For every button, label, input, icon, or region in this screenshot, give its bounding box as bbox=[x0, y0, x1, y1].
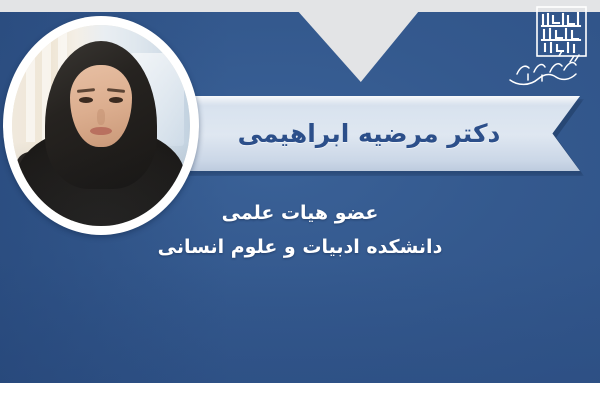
university-logo bbox=[504, 4, 590, 94]
role-line-primary: عضو هیات علمی bbox=[0, 196, 600, 230]
faculty-announcement-card: دکتر مرضیه ابراهیمی عضو هیات ع bbox=[0, 0, 600, 400]
role-block: عضو هیات علمی دانشکده ادبیات و علوم انسا… bbox=[0, 196, 600, 264]
role-line-secondary: دانشکده ادبیات و علوم انسانی bbox=[0, 230, 600, 264]
bottom-white-band bbox=[0, 383, 600, 400]
name-ribbon: دکتر مرضیه ابراهیمی bbox=[186, 96, 584, 173]
university-logo-icon bbox=[504, 4, 590, 94]
person-name: دکتر مرضیه ابراهیمی bbox=[186, 96, 552, 171]
